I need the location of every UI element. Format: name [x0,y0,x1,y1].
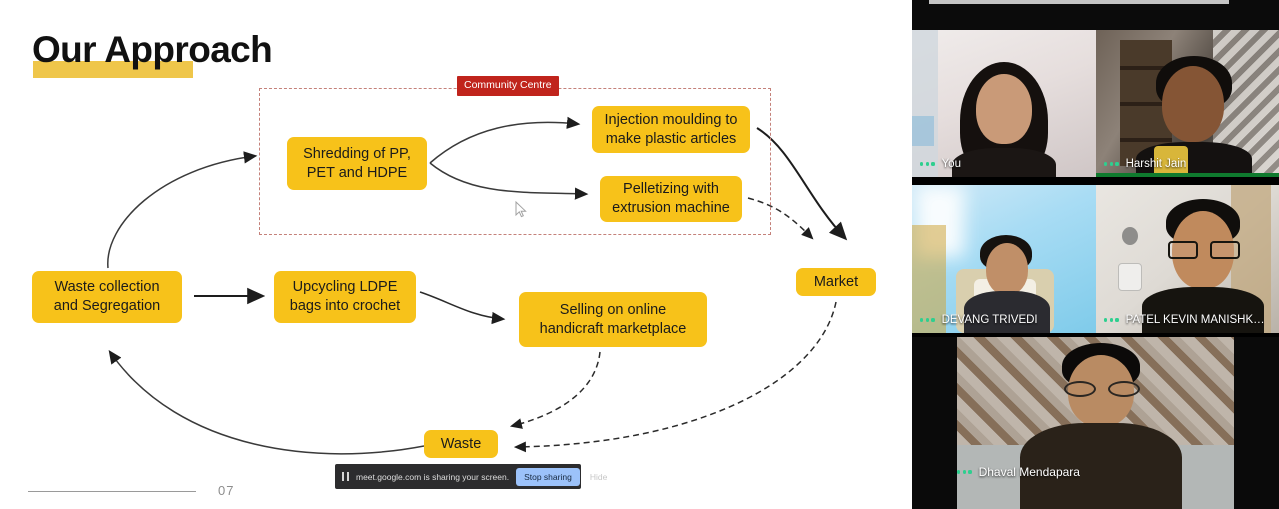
pause-icon[interactable] [342,472,349,481]
screen-root: Our Approach Community Centre Shredding … [0,0,1279,509]
node-injection-line2: make plastic articles [605,130,738,149]
node-shredding: Shredding of PP, PET and HDPE [287,137,427,190]
node-market: Market [796,268,876,296]
glasses-icon [1168,241,1240,259]
node-shredding-line1: Shredding of PP, [303,145,411,164]
video-feed [1096,185,1279,333]
participant-tile-harshit-jain[interactable]: Harshit Jain [1096,30,1279,177]
participant-label: Harshit Jain [1104,158,1186,170]
mic-active-icon [957,470,972,473]
footer-divider [28,491,196,492]
node-upcycling-line1: Upcycling LDPE [290,278,400,297]
page-number: 07 [218,483,234,498]
community-centre-badge: Community Centre [457,76,559,96]
participant-name: You [942,158,961,170]
shared-slide-area: Our Approach Community Centre Shredding … [0,0,912,509]
glasses-icon [1064,381,1140,397]
page-title: Our Approach [32,29,272,71]
node-shredding-line2: PET and HDPE [303,164,411,183]
rail-top-bar [912,0,1279,30]
participant-label: PATEL KEVIN MANISHK… [1104,314,1265,326]
participant-label: You [920,158,961,170]
video-feed [912,30,1096,177]
mic-active-icon [1104,162,1119,165]
participant-label: Dhaval Mendapara [957,465,1080,479]
node-waste-collection: Waste collection and Segregation [32,271,182,323]
screen-share-bar: meet.google.com is sharing your screen. … [335,464,581,489]
node-upcycling-line2: bags into crochet [290,297,400,316]
video-feed [1096,30,1279,177]
hide-share-bar-button[interactable]: Hide [587,472,610,482]
share-message: meet.google.com is sharing your screen. [356,472,509,482]
rail-top-glint [929,0,1229,4]
node-pelletizing-line2: extrusion machine [612,199,730,218]
node-upcycling: Upcycling LDPE bags into crochet [274,271,416,323]
participant-tile-you[interactable]: You [912,30,1096,177]
node-waste: Waste [424,430,498,458]
node-selling-line2: handicraft marketplace [540,320,687,339]
participant-name: DEVANG TRIVEDI [942,314,1038,326]
video-feed [912,337,1279,509]
participant-name: Dhaval Mendapara [979,465,1080,479]
participant-name: PATEL KEVIN MANISHK… [1126,314,1265,326]
node-pelletizing: Pelletizing with extrusion machine [600,176,742,222]
video-feed [912,185,1096,333]
speaking-indicator [1096,173,1279,177]
stop-sharing-button[interactable]: Stop sharing [516,468,580,486]
node-selling-line1: Selling on online [540,301,687,320]
participant-label: DEVANG TRIVEDI [920,314,1038,326]
participant-tile-dhaval-mendapara[interactable]: Dhaval Mendapara [912,337,1279,509]
mouse-cursor-icon [515,201,528,219]
mic-active-icon [920,318,935,321]
participant-name: Harshit Jain [1126,158,1187,170]
node-injection-moulding: Injection moulding to make plastic artic… [592,106,750,153]
node-waste-collection-line1: Waste collection [54,278,160,297]
mic-active-icon [920,162,935,165]
node-injection-line1: Injection moulding to [605,111,738,130]
participant-tile-patel-kevin[interactable]: PATEL KEVIN MANISHK… [1096,185,1279,333]
mic-active-icon [1104,318,1119,321]
node-selling-online: Selling on online handicraft marketplace [519,292,707,347]
participant-tile-devang-trivedi[interactable]: DEVANG TRIVEDI [912,185,1096,333]
node-waste-collection-line2: and Segregation [54,297,160,316]
node-pelletizing-line1: Pelletizing with [612,180,730,199]
meet-participant-rail: You Harshit Jain [912,0,1279,509]
